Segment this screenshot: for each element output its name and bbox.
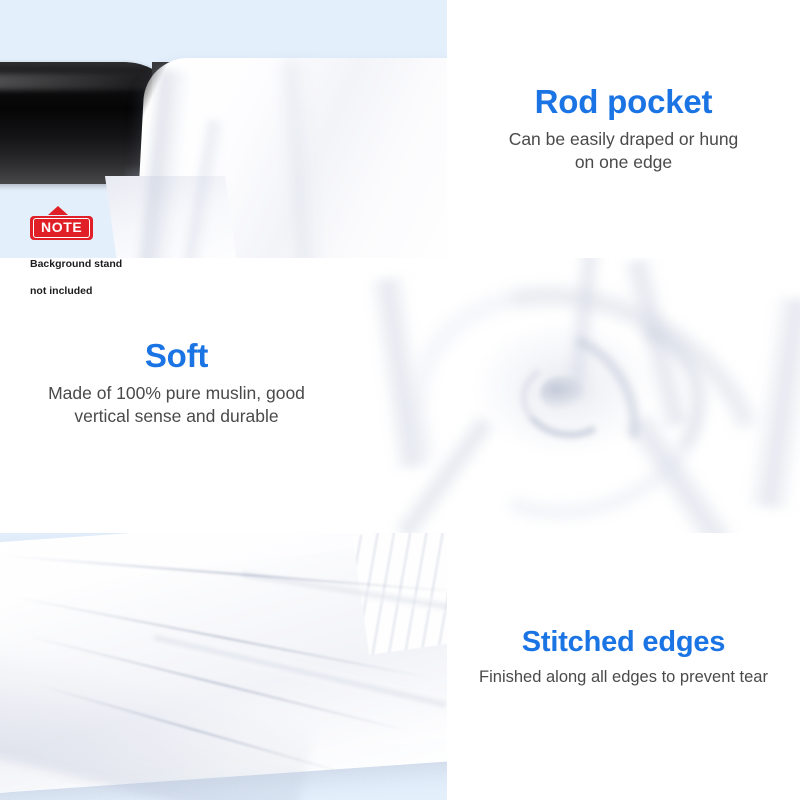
feature-subtext-line: Can be easily draped or hung xyxy=(509,129,739,149)
note-caption-line: Background stand xyxy=(30,258,122,270)
feature-subtext-line: vertical sense and durable xyxy=(74,406,278,426)
product-feature-infographic: Rod pocket Can be easily draped or hung … xyxy=(0,0,800,800)
feature-heading-stitched-edges: Stitched edges xyxy=(447,627,800,659)
note-caption: Background stand not included xyxy=(30,244,122,299)
swirl-center xyxy=(540,376,584,410)
note-label: NOTE xyxy=(33,218,90,238)
feature-rod-pocket: Rod pocket Can be easily draped or hung … xyxy=(447,84,800,174)
feature-subtext-soft: Made of 100% pure muslin, good vertical … xyxy=(0,382,353,428)
rod-highlight xyxy=(0,74,170,90)
feature-subtext-line: Made of 100% pure muslin, good xyxy=(48,383,305,403)
feature-stitched-edges: Stitched edges Finished along all edges … xyxy=(447,627,800,689)
note-badge: NOTE Background stand not included xyxy=(30,206,122,299)
feature-subtext-stitched-edges: Finished along all edges to prevent tear xyxy=(447,667,800,689)
note-pill: NOTE xyxy=(30,216,93,240)
feature-subtext-rod-pocket: Can be easily draped or hung on one edge xyxy=(447,128,800,174)
feature-subtext-line: on one edge xyxy=(575,152,672,172)
feature-heading-rod-pocket: Rod pocket xyxy=(447,84,800,120)
note-caption-line: not included xyxy=(30,285,92,297)
warning-triangle-icon xyxy=(48,206,68,215)
feature-soft: Soft Made of 100% pure muslin, good vert… xyxy=(0,338,353,428)
feature-heading-soft: Soft xyxy=(0,338,353,374)
